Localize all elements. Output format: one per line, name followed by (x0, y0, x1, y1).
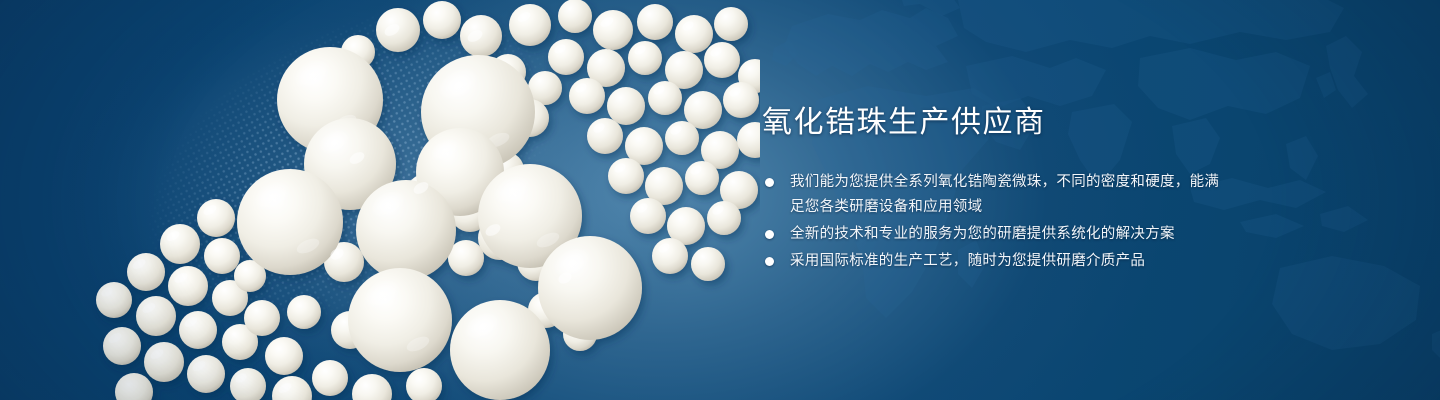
bullet-text: 我们能为您提供全系列氧化锆陶瓷微珠，不同的密度和硬度，能满足您各类研磨设备和应用… (790, 174, 1219, 215)
bullet-text: 采用国际标准的生产工艺，随时为您提供研磨介质产品 (790, 253, 1145, 269)
banner-title: 氧化锆珠生产供应商 (762, 104, 1232, 142)
list-item: 我们能为您提供全系列氧化锆陶瓷微珠，不同的密度和硬度，能满足您各类研磨设备和应用… (762, 170, 1232, 220)
bullet-dot-icon (765, 230, 774, 239)
bullet-dot-icon (765, 178, 774, 187)
list-item: 采用国际标准的生产工艺，随时为您提供研磨介质产品 (762, 249, 1232, 274)
list-item: 全新的技术和专业的服务为您的研磨提供系统化的解决方案 (762, 222, 1232, 247)
bullet-dot-icon (765, 257, 774, 266)
hero-banner: 氧化锆珠生产供应商 我们能为您提供全系列氧化锆陶瓷微珠，不同的密度和硬度，能满足… (0, 0, 1440, 400)
banner-copy: 氧化锆珠生产供应商 我们能为您提供全系列氧化锆陶瓷微珠，不同的密度和硬度，能满足… (762, 104, 1232, 276)
bullet-text: 全新的技术和专业的服务为您的研磨提供系统化的解决方案 (790, 226, 1175, 242)
banner-bullet-list: 我们能为您提供全系列氧化锆陶瓷微珠，不同的密度和硬度，能满足您各类研磨设备和应用… (762, 170, 1232, 274)
